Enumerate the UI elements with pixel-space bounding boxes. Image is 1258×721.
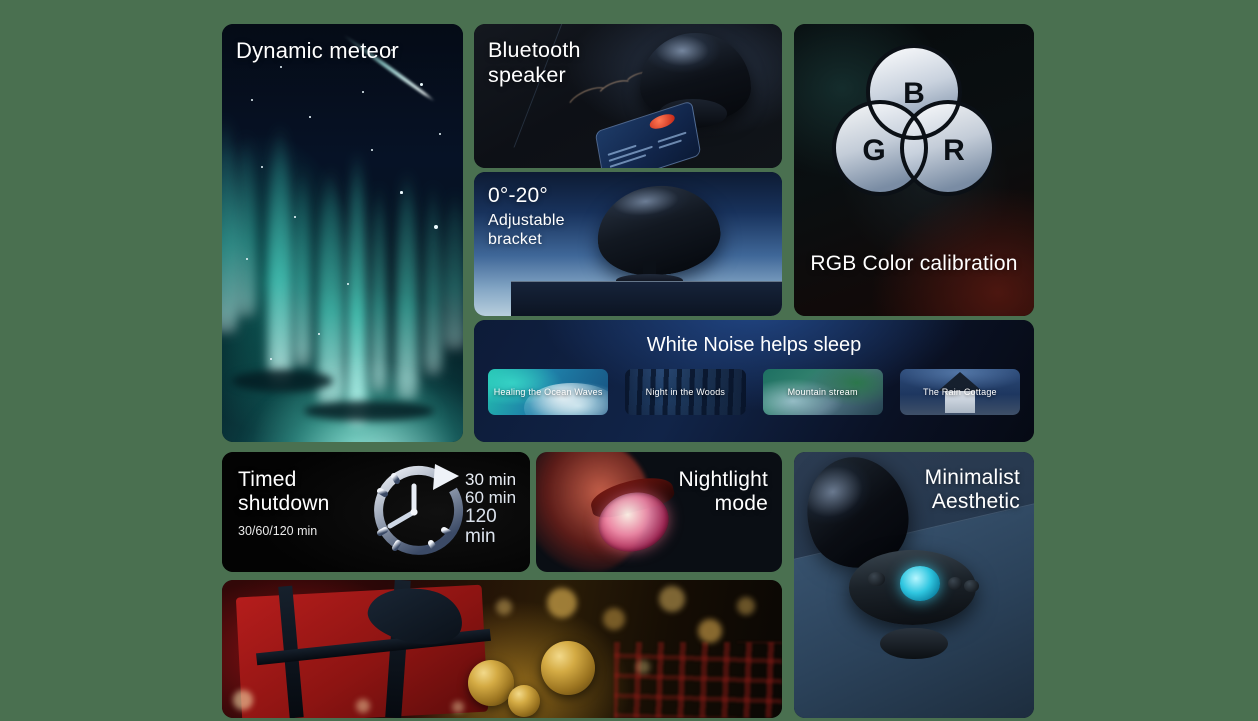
timer-title-line2: shutdown [238, 492, 330, 515]
track-label-ocean: Healing the Ocean Waves [494, 387, 603, 397]
timer-title-line1: Timed [238, 468, 297, 491]
bluetooth-title-line1: Bluetooth [488, 38, 581, 62]
nightlight-title-line2: mode [715, 492, 768, 515]
track-label-cottage: The Rain Cottage [923, 387, 997, 397]
white-noise-track-list: Healing the Ocean Waves Night in the Woo… [488, 369, 1020, 415]
bluetooth-title-line2: speaker [488, 63, 566, 87]
timer-option-60: 60 min [465, 489, 530, 507]
white-noise-track-woods[interactable]: Night in the Woods [625, 369, 745, 415]
bracket-title-line1: Adjustable [488, 212, 565, 229]
card-christmas-photo[interactable] [222, 580, 782, 718]
card-title-nightlight: Nightlight mode [678, 468, 768, 517]
clock-icon [367, 460, 473, 565]
card-adjustable-bracket[interactable]: 0°-20° Adjustable bracket [474, 172, 782, 316]
card-title-bluetooth: Bluetooth speaker [488, 38, 581, 88]
venn-label-b: B [903, 77, 925, 110]
nightlight-title-line1: Nightlight [678, 468, 768, 491]
white-noise-title: White Noise helps sleep [474, 334, 1034, 357]
card-timed-shutdown[interactable]: Timed shutdown 30/60/120 min [222, 452, 530, 572]
card-title-rgb: RGB Color calibration [794, 252, 1034, 276]
card-title-dynamic-meteor: Dynamic meteor [236, 38, 399, 64]
card-title-timed-shutdown: Timed shutdown [238, 468, 330, 517]
timer-subtitle: 30/60/120 min [238, 524, 317, 538]
card-title-minimalist: Minimalist Aesthetic [925, 466, 1020, 515]
white-noise-track-ocean[interactable]: Healing the Ocean Waves [488, 369, 608, 415]
track-label-woods: Night in the Woods [646, 387, 725, 397]
timer-option-120: 120 min [465, 507, 530, 547]
white-noise-track-cottage[interactable]: The Rain Cottage [900, 369, 1020, 415]
track-label-stream: Mountain stream [788, 387, 858, 397]
feature-card-grid: Dynamic meteor Bluetooth speaker [222, 24, 1034, 694]
card-dynamic-meteor[interactable]: Dynamic meteor [222, 24, 463, 442]
minimalist-title-line2: Aesthetic [932, 490, 1020, 513]
timer-option-30: 30 min [465, 471, 530, 489]
minimalist-title-line1: Minimalist [925, 466, 1020, 489]
christmas-photo-art [222, 580, 782, 718]
venn-label-r: R [943, 134, 965, 167]
card-minimalist-aesthetic[interactable]: Minimalist Aesthetic [794, 452, 1034, 718]
projector-lens [900, 566, 941, 601]
bracket-title-line2: bracket [488, 231, 542, 248]
venn-label-g: G [862, 134, 885, 167]
white-noise-track-stream[interactable]: Mountain stream [763, 369, 883, 415]
card-title-bracket: 0°-20° Adjustable bracket [488, 184, 565, 249]
rgb-venn-icon: B G R [830, 44, 998, 196]
card-rgb-calibration[interactable]: B G R RGB Color calibration [794, 24, 1034, 316]
bracket-angle-range: 0°-20° [488, 184, 565, 208]
card-nightlight-mode[interactable]: Nightlight mode [536, 452, 782, 572]
timer-option-list: 30 min 60 min 120 min [465, 471, 530, 547]
card-white-noise[interactable]: White Noise helps sleep Healing the Ocea… [474, 320, 1034, 442]
card-bluetooth-speaker[interactable]: Bluetooth speaker [474, 24, 782, 168]
aurora-sky-art [222, 24, 463, 442]
